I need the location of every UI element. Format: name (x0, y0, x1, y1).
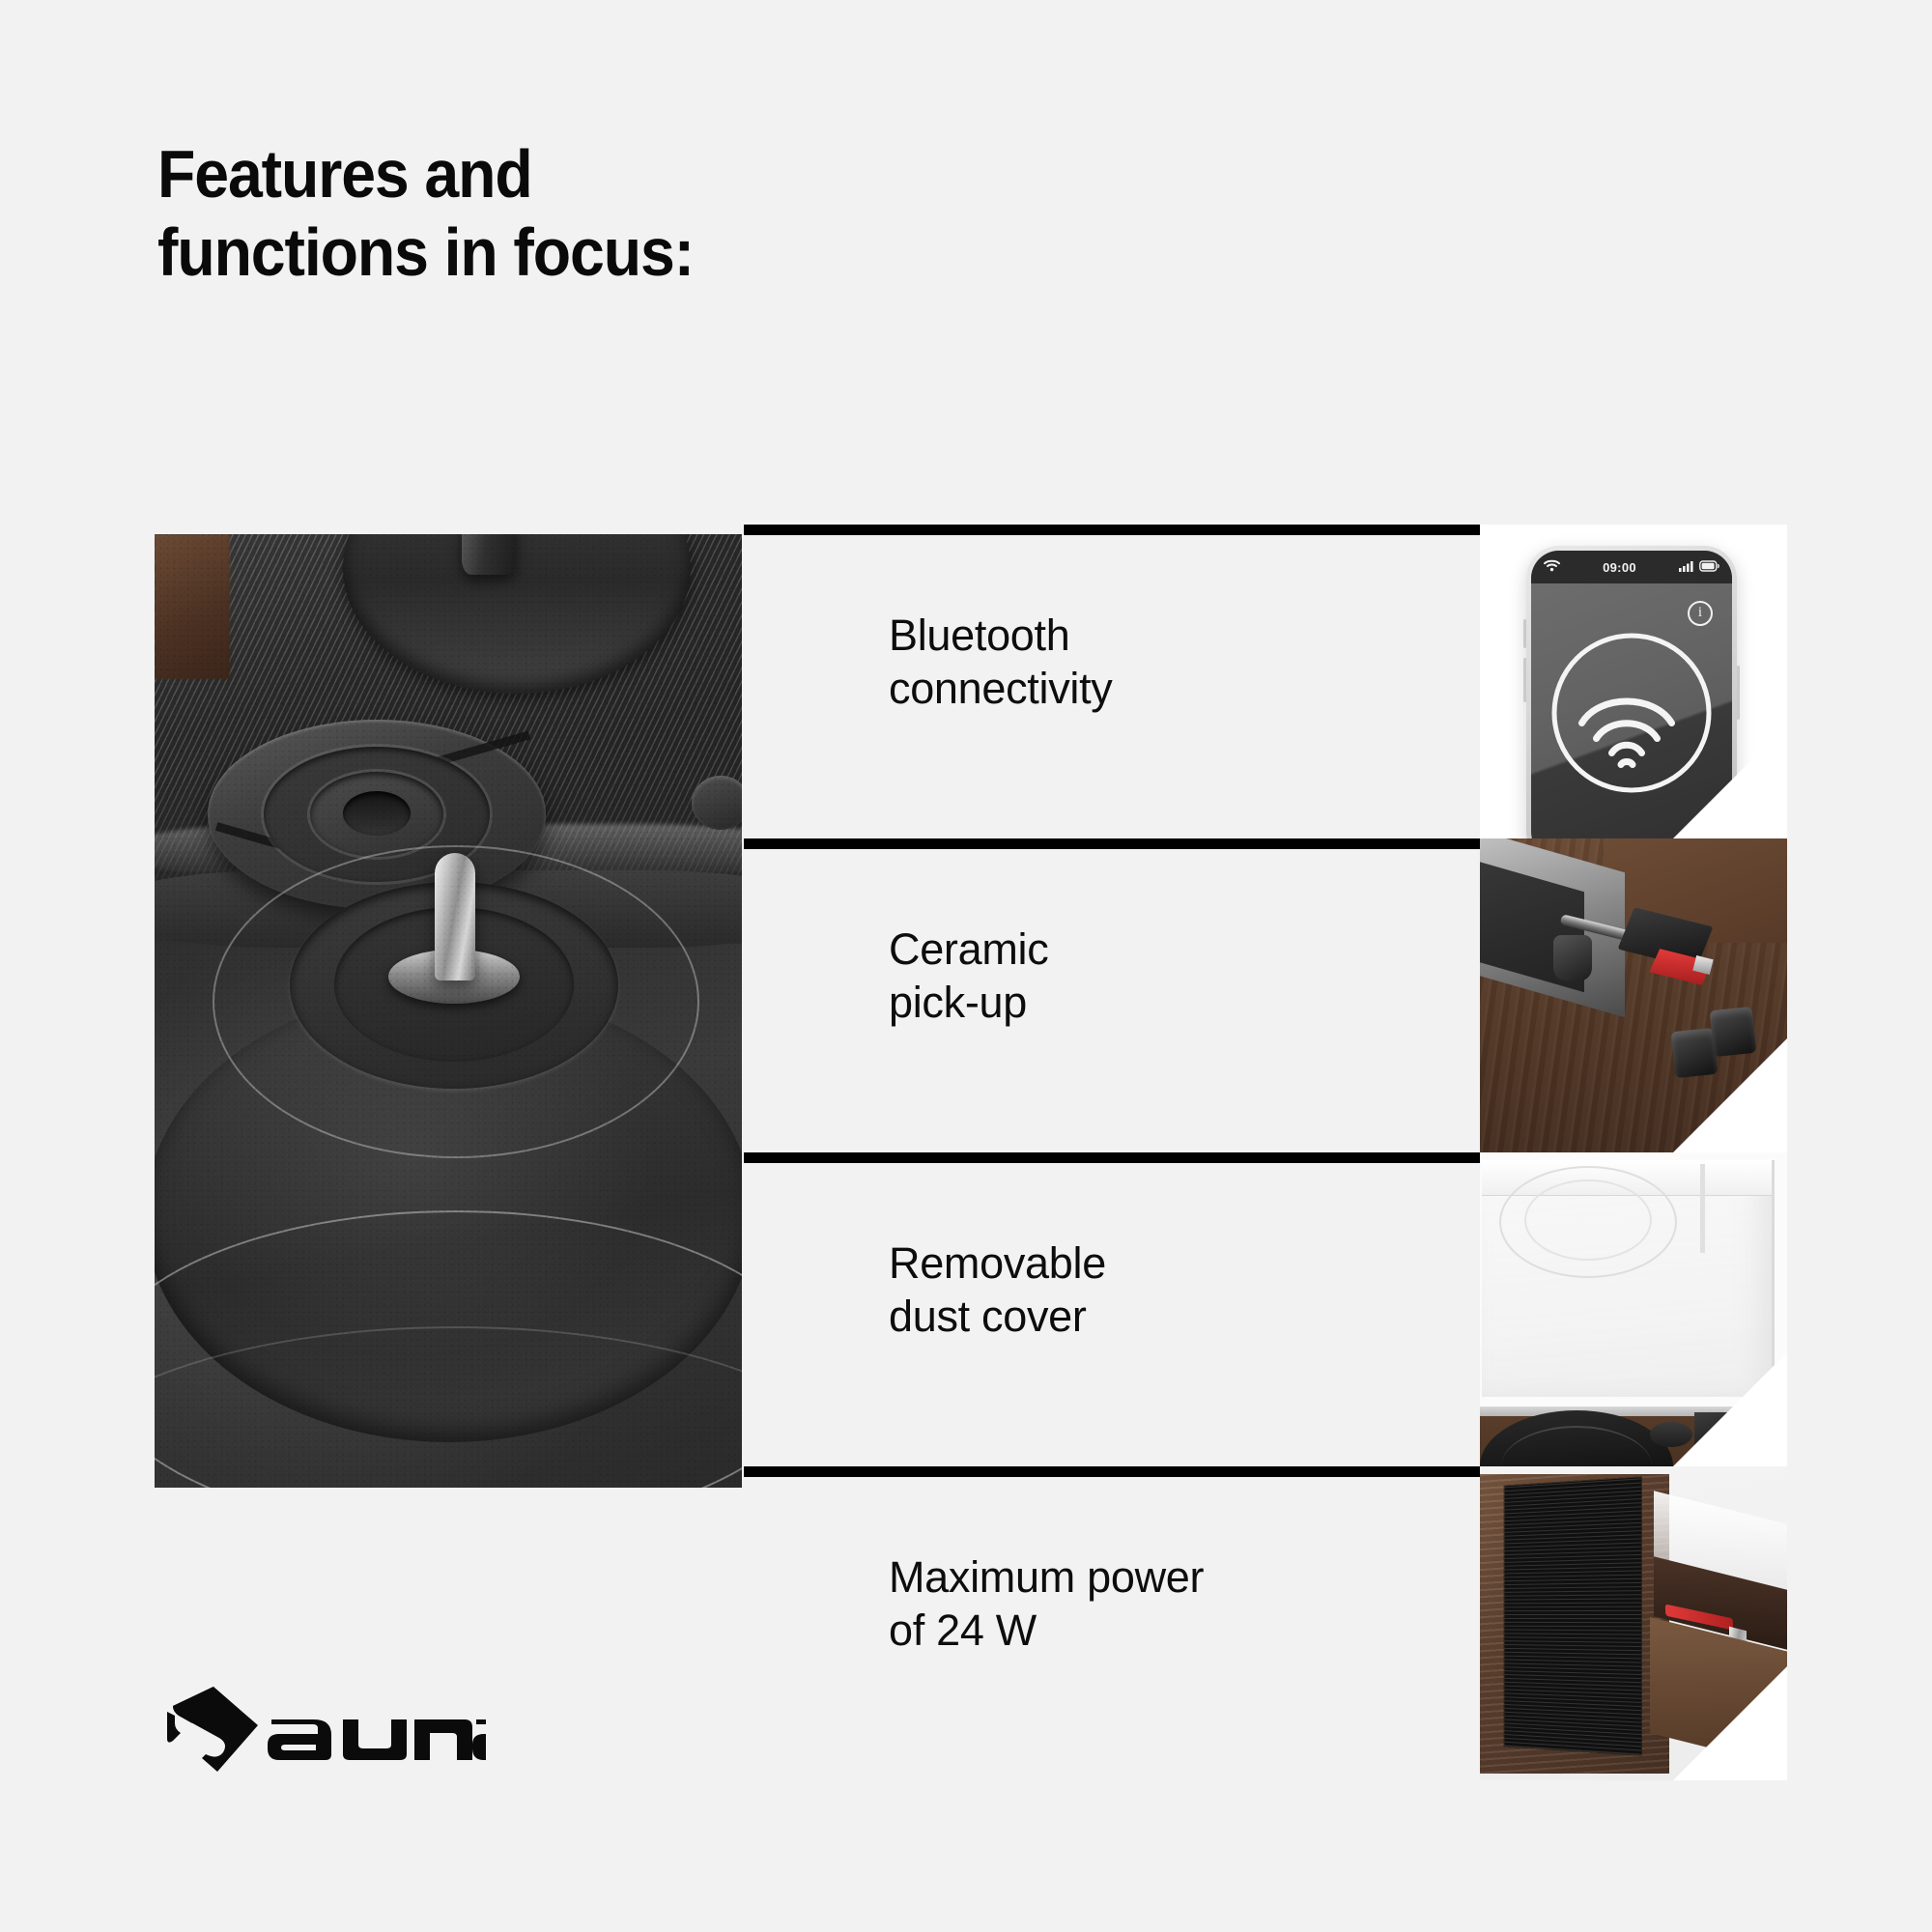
battery-icon (1699, 560, 1719, 575)
feature-label-line2: connectivity (889, 663, 1430, 716)
hero-grain-texture (155, 534, 742, 1488)
page-title: Features and functions in focus: (157, 135, 957, 292)
phone-status-right (1679, 560, 1719, 575)
phone-bluetooth-thumbnail: 09:00 (1480, 525, 1787, 838)
feature-label-bluetooth: Bluetooth connectivity (889, 610, 1430, 716)
auna-wordmark-a2 (472, 1719, 486, 1760)
feature-label-line1: Ceramic (889, 923, 1430, 977)
feature-label-line2: of 24 W (889, 1605, 1507, 1658)
row-divider (744, 1152, 1480, 1163)
feature-label-line1: Removable (889, 1237, 1430, 1291)
phone-button-power (1737, 666, 1740, 720)
phone-notch (1591, 551, 1672, 559)
row-divider (744, 1466, 1480, 1477)
auna-wordmark (268, 1719, 484, 1760)
feature-label-line2: dust cover (889, 1291, 1430, 1344)
hero-turntable-image (155, 534, 742, 1488)
dust-cover-thumbnail (1480, 1152, 1787, 1466)
feature-row-ceramic-pickup[interactable]: Ceramic pick-up (744, 838, 1787, 1152)
feature-row-dust-cover[interactable]: Removable dust cover (744, 1152, 1787, 1466)
row-divider (744, 838, 1480, 849)
feature-label-ceramic-pickup: Ceramic pick-up (889, 923, 1430, 1030)
infographic-page: Features and functions in focus: (0, 0, 1932, 1932)
row-divider (744, 525, 1480, 535)
feature-label-line2: pick-up (889, 977, 1430, 1030)
tonearm-base (1553, 935, 1592, 981)
signal-bars-icon (1679, 560, 1694, 575)
tonearm-cartridge-thumbnail (1480, 838, 1787, 1152)
auna-logo-svg (157, 1683, 486, 1776)
feature-row-max-power[interactable]: Maximum power of 24 W (744, 1466, 1787, 1780)
auna-diamond-mark (167, 1687, 258, 1772)
auna-logo (157, 1683, 496, 1779)
feature-label-line1: Maximum power (889, 1551, 1507, 1605)
phone-button-mute (1523, 619, 1526, 648)
dust-cover-hinge (1700, 1164, 1705, 1253)
thumbnail-corner-fold (1673, 1038, 1787, 1152)
feature-label-max-power: Maximum power of 24 W (889, 1551, 1507, 1658)
feature-row-bluetooth[interactable]: Bluetooth connectivity (744, 525, 1787, 838)
feature-list: Bluetooth connectivity (744, 525, 1787, 1500)
phone-button-volume (1523, 658, 1526, 702)
thumbnail-corner-fold (1673, 1666, 1787, 1780)
platter-inner-through-cover (1524, 1179, 1652, 1261)
feature-label-line1: Bluetooth (889, 610, 1430, 663)
info-icon[interactable]: i (1688, 601, 1713, 626)
speaker-grille-thumbnail (1480, 1466, 1787, 1780)
phone-status-time: 09:00 (1603, 560, 1636, 575)
thumbnail-corner-fold (1673, 724, 1787, 838)
wifi-icon (1544, 559, 1560, 575)
page-title-line1: Features and (157, 136, 532, 212)
feature-label-dust-cover: Removable dust cover (889, 1237, 1430, 1344)
speaker-grille (1505, 1477, 1642, 1754)
thumbnail-corner-fold (1673, 1352, 1787, 1466)
page-title-line2: functions in focus: (157, 213, 957, 292)
